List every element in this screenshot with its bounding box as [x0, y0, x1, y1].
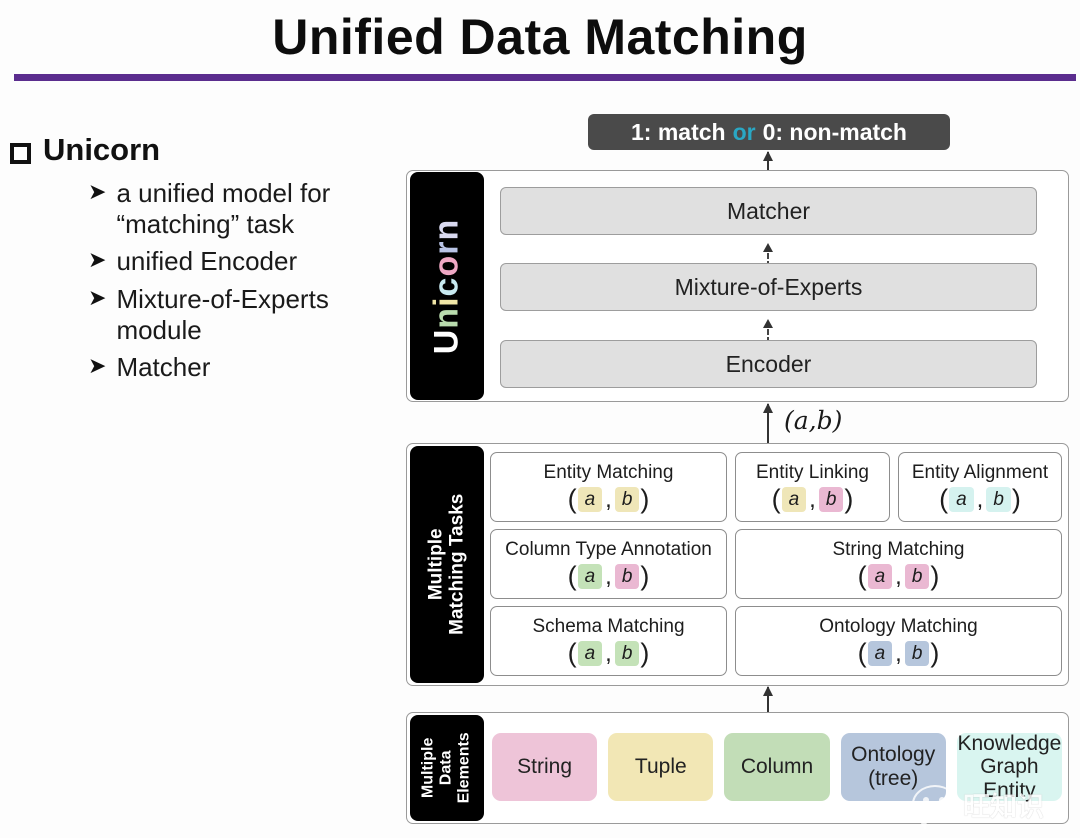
pair-b: b — [615, 487, 640, 512]
pair-b: b — [905, 641, 930, 666]
chip-ontology[interactable]: Ontology (tree) — [841, 733, 946, 801]
close-paren: ) — [930, 563, 939, 590]
bullet-heading: Unicorn — [10, 132, 400, 168]
chip-label: Tuple — [635, 755, 687, 779]
open-paren: ( — [939, 486, 948, 513]
pair-b: b — [819, 487, 844, 512]
task-pair: ( a , b ) — [568, 486, 650, 513]
task-name: Entity Linking — [756, 463, 869, 484]
pair-comma: , — [605, 565, 612, 589]
list-item-label: unified Encoder — [116, 246, 297, 277]
unicorn-letter: n — [428, 306, 467, 328]
chip-label: Ontology — [851, 743, 935, 767]
data-elements-vertical-text: Multiple Data Elements — [420, 732, 474, 803]
pair-b: b — [986, 487, 1011, 512]
pair-comma: , — [605, 642, 612, 666]
open-paren: ( — [568, 640, 577, 667]
pair-a: a — [868, 641, 893, 666]
chip-label: String — [517, 755, 572, 779]
task-schema-matching[interactable]: Schema Matching ( a , b ) — [490, 606, 727, 676]
arrow-data-to-tasks — [767, 687, 769, 713]
task-pair: ( a , b ) — [939, 486, 1021, 513]
tab-line: Multiple — [420, 732, 438, 803]
pair-b: b — [905, 564, 930, 589]
list-item-label: Mixture-of-Experts module — [116, 284, 400, 345]
chip-sublabel: Graph Entity — [957, 755, 1062, 802]
task-pair: ( a , b ) — [568, 640, 650, 667]
list-item: ➤ Matcher — [88, 352, 400, 383]
task-pair: ( a , b ) — [568, 563, 650, 590]
arrow-unicorn-to-output — [767, 152, 769, 172]
task-name: Entity Alignment — [912, 463, 1048, 484]
layer-mixture-of-experts: Mixture-of-Experts — [500, 263, 1037, 311]
task-name: Ontology Matching — [819, 617, 977, 638]
pair-a: a — [578, 487, 603, 512]
task-entity-alignment[interactable]: Entity Alignment ( a , b ) — [898, 452, 1062, 522]
close-paren: ) — [640, 640, 649, 667]
task-pair: ( a , b ) — [858, 640, 940, 667]
layer-encoder-label: Encoder — [726, 351, 812, 378]
pair-a: a — [578, 564, 603, 589]
open-paren: ( — [858, 640, 867, 667]
list-item-label: Matcher — [116, 352, 210, 383]
pair-a: a — [782, 487, 807, 512]
tab-line: Elements — [456, 732, 474, 803]
pair-a: a — [949, 487, 974, 512]
list-item: ➤ Mixture-of-Experts module — [88, 284, 400, 345]
close-paren: ) — [930, 640, 939, 667]
unicorn-letter: U — [428, 328, 467, 354]
tab-line: Matching Tasks — [447, 494, 468, 635]
pair-comma: , — [605, 488, 612, 512]
pair-comma: , — [809, 488, 816, 512]
matching-tasks-vertical-text: Multiple Matching Tasks — [426, 494, 469, 635]
task-name: Schema Matching — [532, 617, 684, 638]
task-name: Column Type Annotation — [505, 540, 712, 561]
bullet-heading-label: Unicorn — [43, 132, 160, 168]
close-paren: ) — [1012, 486, 1021, 513]
pair-b: b — [615, 641, 640, 666]
task-entity-matching[interactable]: Entity Matching ( a , b ) — [490, 452, 727, 522]
pair-comma: , — [895, 565, 902, 589]
data-element-chips: String Tuple Column Ontology (tree) Know… — [492, 733, 1062, 801]
list-item: ➤ a unified model for “matching” task — [88, 178, 400, 239]
close-paren: ) — [844, 486, 853, 513]
chip-tuple[interactable]: Tuple — [608, 733, 713, 801]
open-paren: ( — [568, 563, 577, 590]
task-pair: ( a , b ) — [772, 486, 854, 513]
chip-string[interactable]: String — [492, 733, 597, 801]
chip-label: Knowledge — [957, 732, 1061, 756]
task-name: String Matching — [832, 540, 964, 561]
unicorn-letter: o — [428, 254, 467, 276]
pair-a: a — [868, 564, 893, 589]
input-pair-label: (a,b) — [784, 406, 842, 435]
task-ontology-matching[interactable]: Ontology Matching ( a , b ) — [735, 606, 1062, 676]
layer-matcher-label: Matcher — [727, 198, 810, 225]
pair-comma: , — [895, 642, 902, 666]
open-paren: ( — [568, 486, 577, 513]
unicorn-letter: r — [428, 240, 467, 254]
list-item-label: a unified model for “matching” task — [116, 178, 400, 239]
unicorn-wordmark: Unicorn — [428, 218, 467, 354]
close-paren: ) — [640, 486, 649, 513]
square-bullet-icon — [10, 143, 31, 164]
output-nonmatch-label: 0: non-match — [763, 119, 907, 146]
arrow-bullet-icon: ➤ — [88, 284, 106, 313]
task-pair: ( a , b ) — [858, 563, 940, 590]
layer-moe-label: Mixture-of-Experts — [675, 274, 863, 301]
tab-line: Multiple — [426, 494, 447, 635]
title-divider — [14, 74, 1076, 81]
tab-line: Data — [438, 732, 456, 803]
data-elements-vertical-label: Multiple Data Elements — [410, 715, 484, 821]
task-string-matching[interactable]: String Matching ( a , b ) — [735, 529, 1062, 599]
list-item: ➤ unified Encoder — [88, 246, 400, 277]
task-entity-linking[interactable]: Entity Linking ( a , b ) — [735, 452, 890, 522]
unicorn-letter: c — [428, 276, 467, 296]
output-banner: 1: match or 0: non-match — [588, 114, 950, 150]
layer-encoder: Encoder — [500, 340, 1037, 388]
unicorn-letter: n — [428, 218, 467, 240]
chip-label: Column — [741, 755, 813, 779]
task-column-type-annotation[interactable]: Column Type Annotation ( a , b ) — [490, 529, 727, 599]
pair-a: a — [578, 641, 603, 666]
unicorn-vertical-label: Unicorn — [410, 172, 484, 400]
arrow-bullet-icon: ➤ — [88, 246, 106, 275]
pair-b: b — [615, 564, 640, 589]
output-or-label: or — [733, 119, 756, 146]
chip-sublabel: (tree) — [868, 767, 918, 791]
close-paren: ) — [640, 563, 649, 590]
arrow-bullet-icon: ➤ — [88, 352, 106, 381]
page-title: Unified Data Matching — [0, 2, 1080, 72]
chip-knowledge-graph-entity[interactable]: Knowledge Graph Entity — [957, 733, 1062, 801]
output-match-label: 1: match — [631, 119, 726, 146]
open-paren: ( — [858, 563, 867, 590]
pair-comma: , — [977, 488, 984, 512]
task-name: Entity Matching — [544, 463, 674, 484]
arrow-tasks-to-unicorn — [767, 404, 769, 444]
bullet-list: Unicorn ➤ a unified model for “matching”… — [10, 132, 400, 390]
chip-column[interactable]: Column — [724, 733, 829, 801]
open-paren: ( — [772, 486, 781, 513]
arrow-bullet-icon: ➤ — [88, 178, 106, 207]
unicorn-letter: i — [428, 296, 467, 306]
layer-matcher: Matcher — [500, 187, 1037, 235]
matching-tasks-vertical-label: Multiple Matching Tasks — [410, 446, 484, 683]
